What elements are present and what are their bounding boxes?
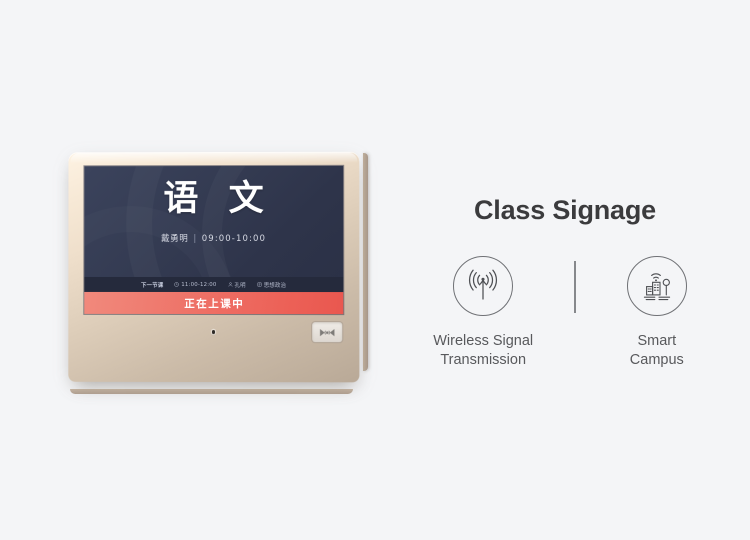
next-class-time-item: 11:00-12:00 — [174, 281, 216, 287]
current-subject-title: 语 文 — [84, 182, 343, 217]
status-badge: 正在上课中 — [84, 292, 343, 314]
next-class-teacher-item: 孔明 — [228, 281, 246, 289]
next-class-subject-item: 思想政治 — [257, 281, 286, 289]
nfc-signal-icon — [318, 327, 336, 338]
next-class-subject: 思想政治 — [264, 281, 286, 289]
wireless-antenna-icon-circle — [453, 256, 513, 316]
feature-list: Wireless Signal Transmission — [410, 256, 720, 370]
device-frame: 语 文 戴勇明|09:00-10:00 下一节课 11:00-12:00 — [68, 152, 359, 383]
classroom-signage-device: 语 文 戴勇明|09:00-10:00 下一节课 11:00-12:00 — [62, 146, 364, 390]
feature-smart-campus: Smart Campus — [594, 256, 720, 370]
next-class-time: 11:00-12:00 — [181, 281, 216, 287]
feature-campus-caption: Smart Campus — [630, 332, 684, 370]
next-class-label: 下一节课 — [141, 280, 163, 288]
device-top-highlight — [70, 153, 357, 164]
next-class-bar: 下一节课 11:00-12:00 孔明 — [84, 277, 343, 292]
device-screen[interactable]: 语 文 戴勇明|09:00-10:00 下一节课 11:00-12:00 — [84, 166, 343, 314]
feature-wireless-caption: Wireless Signal Transmission — [433, 332, 533, 370]
current-class-meta: 戴勇明|09:00-10:00 — [84, 232, 343, 244]
product-info-panel: Class Signage — [410, 196, 720, 370]
device-right-edge — [363, 153, 368, 371]
next-class-teacher: 孔明 — [235, 281, 246, 289]
nfc-card-reader[interactable] — [312, 322, 342, 342]
teacher-name: 戴勇明 — [161, 234, 188, 244]
feature-divider — [574, 261, 576, 313]
smart-campus-icon-circle — [627, 256, 687, 316]
page-title: Class Signage — [410, 196, 720, 226]
person-icon — [228, 282, 233, 287]
device-bottom-edge — [70, 389, 353, 394]
class-time-range: 09:00-10:00 — [202, 234, 266, 244]
feature-wireless-signal: Wireless Signal Transmission — [410, 256, 556, 370]
meta-separator: | — [193, 234, 196, 244]
wireless-antenna-icon — [464, 268, 502, 304]
smart-campus-icon — [638, 268, 676, 304]
book-icon — [257, 282, 262, 287]
light-sensor-icon — [211, 330, 215, 334]
clock-icon — [174, 282, 179, 287]
